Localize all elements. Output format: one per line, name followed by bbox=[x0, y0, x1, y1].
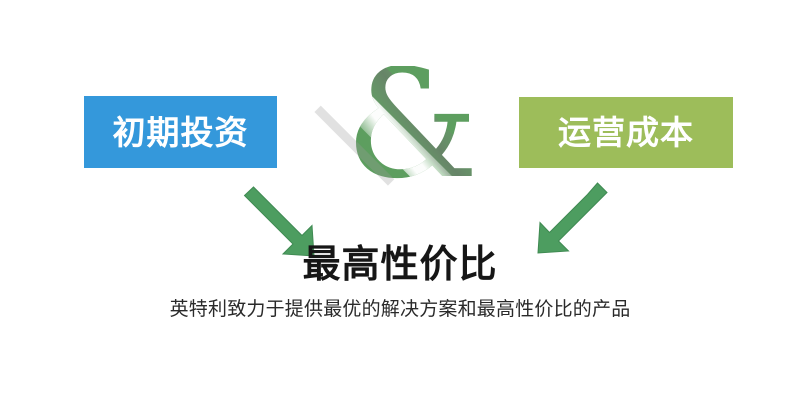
result-headline: 最高性价比 bbox=[0, 242, 800, 288]
slide-canvas: 初期投资 运营成本 & bbox=[0, 0, 800, 400]
result-block: 最高性价比 英特利致力于提供最优的解决方案和最高性价比的产品 bbox=[0, 242, 800, 322]
concept-label-initial-investment: 初期投资 bbox=[113, 116, 249, 149]
ampersand-icon: & & bbox=[345, 66, 480, 192]
concept-box-initial-investment[interactable]: 初期投资 bbox=[84, 96, 277, 168]
result-subtitle: 英特利致力于提供最优的解决方案和最高性价比的产品 bbox=[0, 298, 800, 322]
concept-box-operating-cost[interactable]: 运营成本 bbox=[519, 97, 733, 168]
concept-label-operating-cost: 运营成本 bbox=[558, 116, 694, 149]
ampersand-shine-streak-icon bbox=[345, 66, 480, 192]
